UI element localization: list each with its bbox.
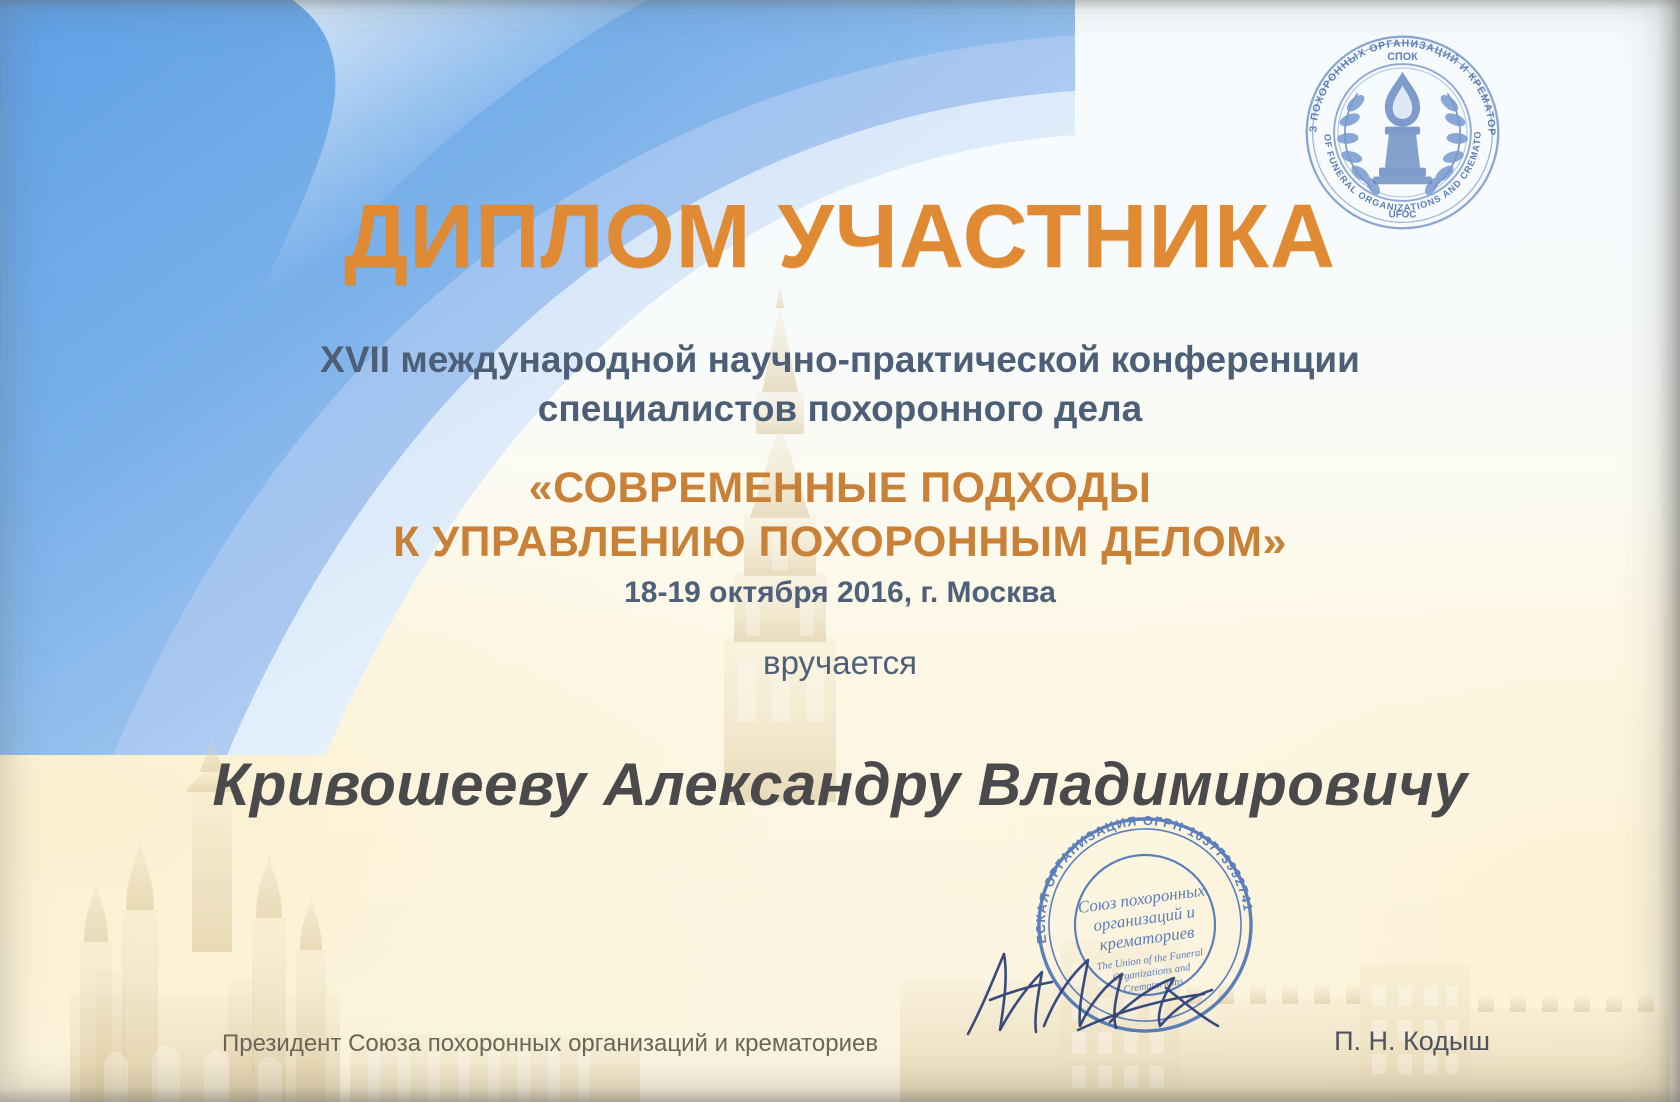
signer-role: Президент Союза похоронных организаций и… bbox=[222, 1030, 878, 1058]
subtitle-line-1: XVII международной научно-практической к… bbox=[320, 339, 1360, 380]
awarded-to-label: вручается bbox=[0, 644, 1680, 682]
page-edge-top-shadow bbox=[0, 0, 1680, 10]
recipient-name: Кривошееву Александру Владимировичу bbox=[0, 750, 1680, 819]
conference-subtitle: XVII международной научно-практической к… bbox=[0, 336, 1680, 434]
certificate-content: ДИПЛОМ УЧАСТНИКА XVII международной науч… bbox=[0, 0, 1680, 1102]
page-edge-right-shadow bbox=[1658, 0, 1680, 1102]
date-location: 18-19 октября 2016, г. Москва bbox=[0, 576, 1680, 610]
conference-title-line-1: «СОВРЕМЕННЫЕ ПОДХОДЫ bbox=[529, 464, 1152, 512]
handwritten-signature bbox=[960, 930, 1260, 1060]
certificate-document: СОЮЗ ПОХОРОННЫХ ОРГАНИЗАЦИЙ И КРЕМАТОРИЕ… bbox=[0, 0, 1680, 1102]
subtitle-line-2: специалистов похоронного дела bbox=[0, 385, 1680, 434]
page-title: ДИПЛОМ УЧАСТНИКА bbox=[0, 186, 1680, 289]
signer-name: П. Н. Кодыш bbox=[1334, 1026, 1490, 1057]
conference-title-line-2: К УПРАВЛЕНИЮ ПОХОРОННЫМ ДЕЛОМ» bbox=[0, 516, 1680, 570]
conference-title: «СОВРЕМЕННЫЕ ПОДХОДЫ К УПРАВЛЕНИЮ ПОХОРО… bbox=[0, 462, 1680, 570]
page-edge-bottom-shadow bbox=[0, 1088, 1680, 1102]
